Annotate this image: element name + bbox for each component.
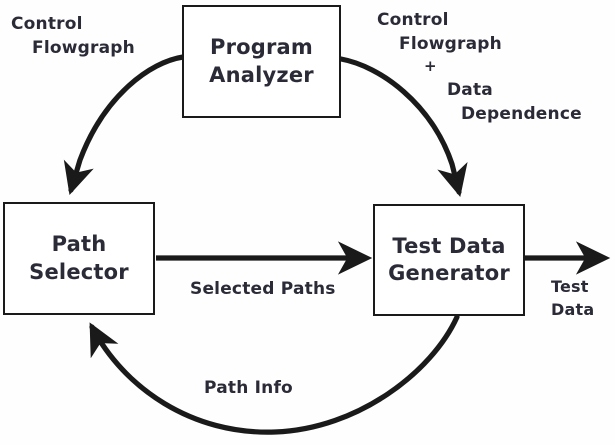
edge-label-path-info: Path Info [204,378,293,398]
edge-generator-to-path-selector [92,317,457,432]
edge-analyzer-to-path-selector [71,57,183,190]
node-program-analyzer-line2: Analyzer [209,62,314,89]
edge-label-cfg-dd-line2: Flowgraph [377,32,582,56]
node-test-data-generator-line2: Generator [388,260,510,287]
edge-label-test-data-output: Test Data [551,276,594,321]
node-path-selector[interactable]: Path Selector [3,202,155,315]
edge-label-selected-paths: Selected Paths [190,279,336,299]
edge-label-test-data-line2: Data [551,299,594,322]
diagram-canvas: Program Analyzer Path Selector Test Data… [0,0,615,445]
node-program-analyzer[interactable]: Program Analyzer [182,5,341,118]
edge-label-control-flowgraph-left: Control Flowgraph [11,12,135,60]
edge-label-control-flowgraph-left-line1: Control [11,12,135,36]
node-path-selector-line1: Path [52,231,107,258]
edge-label-cfg-dd-plus: + [377,56,582,77]
edge-label-cfg-dd-line4: Data [377,78,582,102]
edge-label-cfg-dd-line5: Dependence [377,102,582,126]
node-test-data-generator-line1: Test Data [392,233,505,260]
node-program-analyzer-line1: Program [210,34,313,61]
edge-label-cfg-dd-line1: Control [377,8,582,32]
edge-label-control-flowgraph-data-dependence: Control Flowgraph + Data Dependence [377,8,582,126]
edge-label-control-flowgraph-left-line2: Flowgraph [11,36,135,60]
edge-label-test-data-line1: Test [551,276,594,299]
node-path-selector-line2: Selector [29,259,129,286]
node-test-data-generator[interactable]: Test Data Generator [373,204,525,316]
